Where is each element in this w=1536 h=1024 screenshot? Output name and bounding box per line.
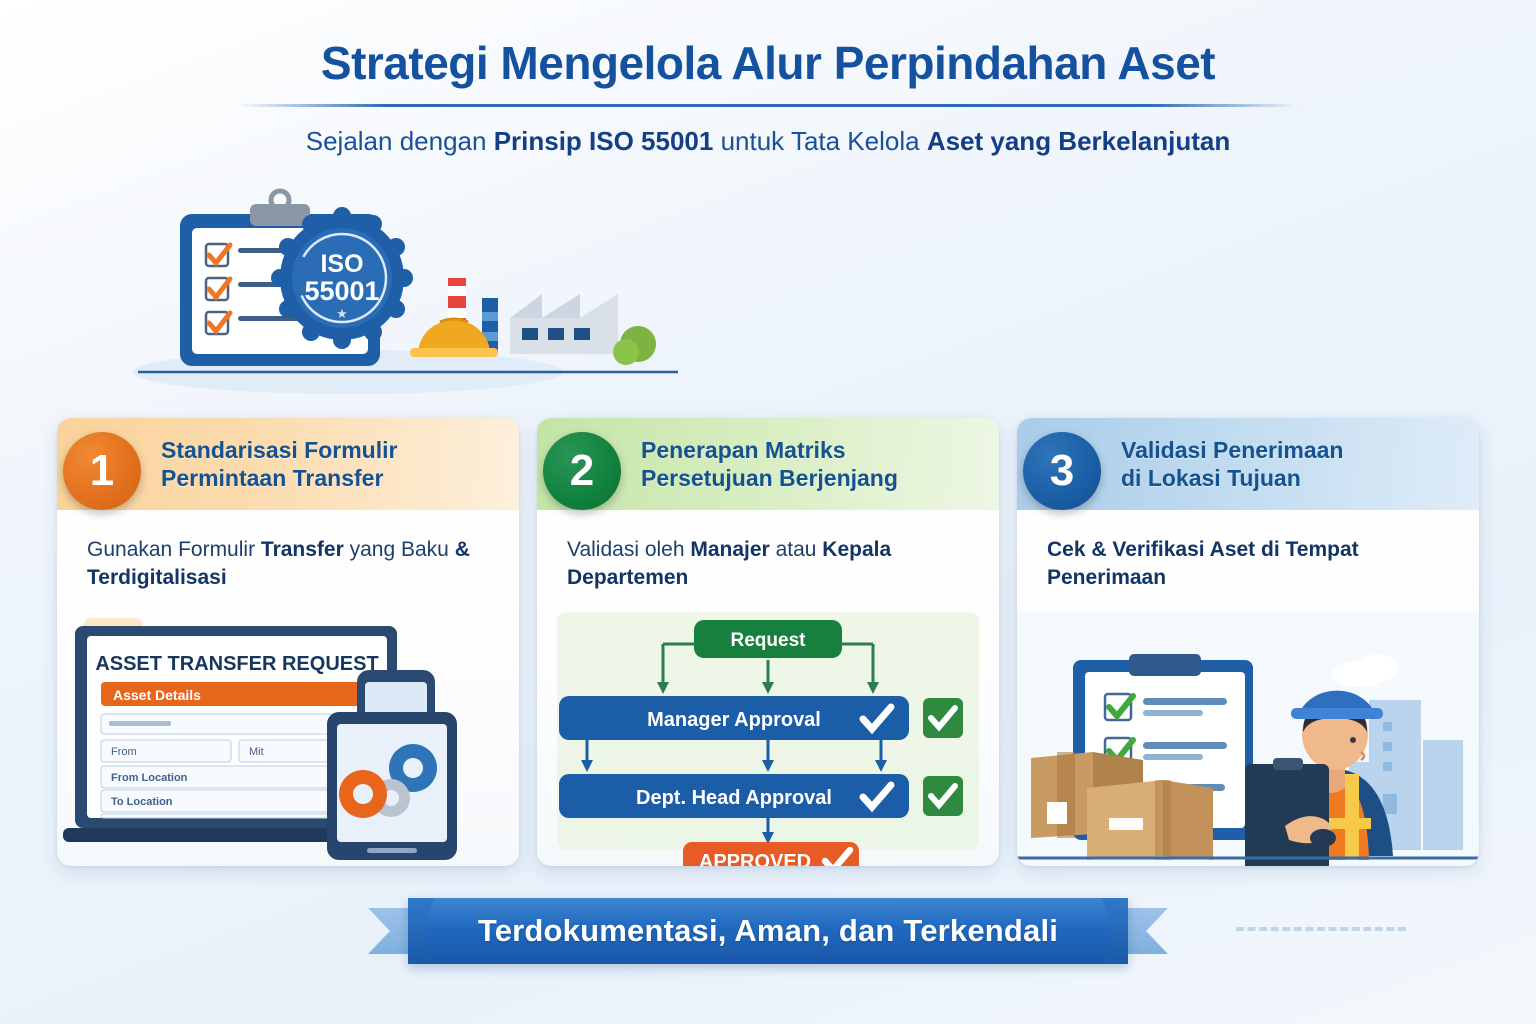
step-title-line1: Validasi Penerimaan bbox=[1121, 436, 1461, 464]
ribbon-body: Terdokumentasi, Aman, dan Terkendali bbox=[408, 898, 1128, 964]
flow-label-manager: Manager Approval bbox=[647, 709, 821, 731]
step-title-line1: Penerapan Matriks bbox=[641, 436, 981, 464]
step-title-line2: Persetujuan Berjenjang bbox=[641, 464, 981, 492]
flow-label-approved: APPROVED bbox=[699, 851, 811, 866]
step-title-line2: di Lokasi Tujuan bbox=[1121, 464, 1461, 492]
page-title: Strategi Mengelola Alur Perpindahan Aset bbox=[0, 38, 1536, 90]
iso-badge-line2: 55001 bbox=[304, 276, 379, 306]
steps-row: 1 Standarisasi Formulir Permintaan Trans… bbox=[0, 418, 1536, 866]
iso-badge-line1: ISO bbox=[320, 250, 363, 278]
flow-label-request: Request bbox=[731, 630, 807, 651]
step-description-2: Validasi oleh Manajer atau Kepala Depart… bbox=[537, 510, 999, 606]
step-number-2: 2 bbox=[543, 432, 621, 510]
form-field-from-location: From Location bbox=[111, 772, 188, 784]
title-divider bbox=[238, 104, 1298, 107]
step-title-line1: Standarisasi Formulir bbox=[161, 436, 501, 464]
form-title: ASSET TRANSFER REQUEST bbox=[95, 653, 378, 675]
approval-flow-diagram: Request Manager Approval Dept. Head Appr… bbox=[537, 612, 999, 866]
hero-illustration: ISO 55001 ★ bbox=[118, 186, 678, 396]
form-field-from: From bbox=[111, 746, 137, 758]
footer-ribbon-wrap: Terdokumentasi, Aman, dan Terkendali bbox=[0, 898, 1536, 964]
step-card-1[interactable]: 1 Standarisasi Formulir Permintaan Trans… bbox=[57, 418, 519, 866]
page-subtitle: Sejalan dengan Prinsip ISO 55001 untuk T… bbox=[0, 125, 1536, 159]
step-card-3[interactable]: 3 Validasi Penerimaan di Lokasi Tujuan C… bbox=[1017, 418, 1479, 866]
flow-label-dept-head: Dept. Head Approval bbox=[636, 787, 832, 809]
ribbon-text: Terdokumentasi, Aman, dan Terkendali bbox=[478, 913, 1058, 949]
form-section-label: Asset Details bbox=[113, 687, 201, 703]
tablet-icon bbox=[327, 712, 457, 860]
form-field-to-location: To Location bbox=[111, 796, 173, 808]
step-number-1: 1 bbox=[63, 432, 141, 510]
step-illustration-1: ASSET TRANSFER REQUEST Asset Details Fro… bbox=[57, 612, 519, 866]
step-number-3: 3 bbox=[1023, 432, 1101, 510]
step-title-line2: Permintaan Transfer bbox=[161, 464, 501, 492]
step-description-1: Gunakan Formulir Transfer yang Baku & Te… bbox=[57, 510, 519, 606]
form-field-mit: Mit bbox=[249, 746, 264, 758]
step-description-3: Cek & Verifikasi Aset di Tempat Penerima… bbox=[1017, 510, 1479, 606]
step-illustration-3 bbox=[1017, 612, 1479, 866]
footer-ribbon: Terdokumentasi, Aman, dan Terkendali bbox=[368, 898, 1168, 964]
svg-text:★: ★ bbox=[336, 306, 348, 321]
clipboard-icon bbox=[1245, 764, 1329, 866]
step-card-2[interactable]: 2 Penerapan Matriks Persetujuan Berjenja… bbox=[537, 418, 999, 866]
page-header: Strategi Mengelola Alur Perpindahan Aset… bbox=[0, 0, 1536, 158]
